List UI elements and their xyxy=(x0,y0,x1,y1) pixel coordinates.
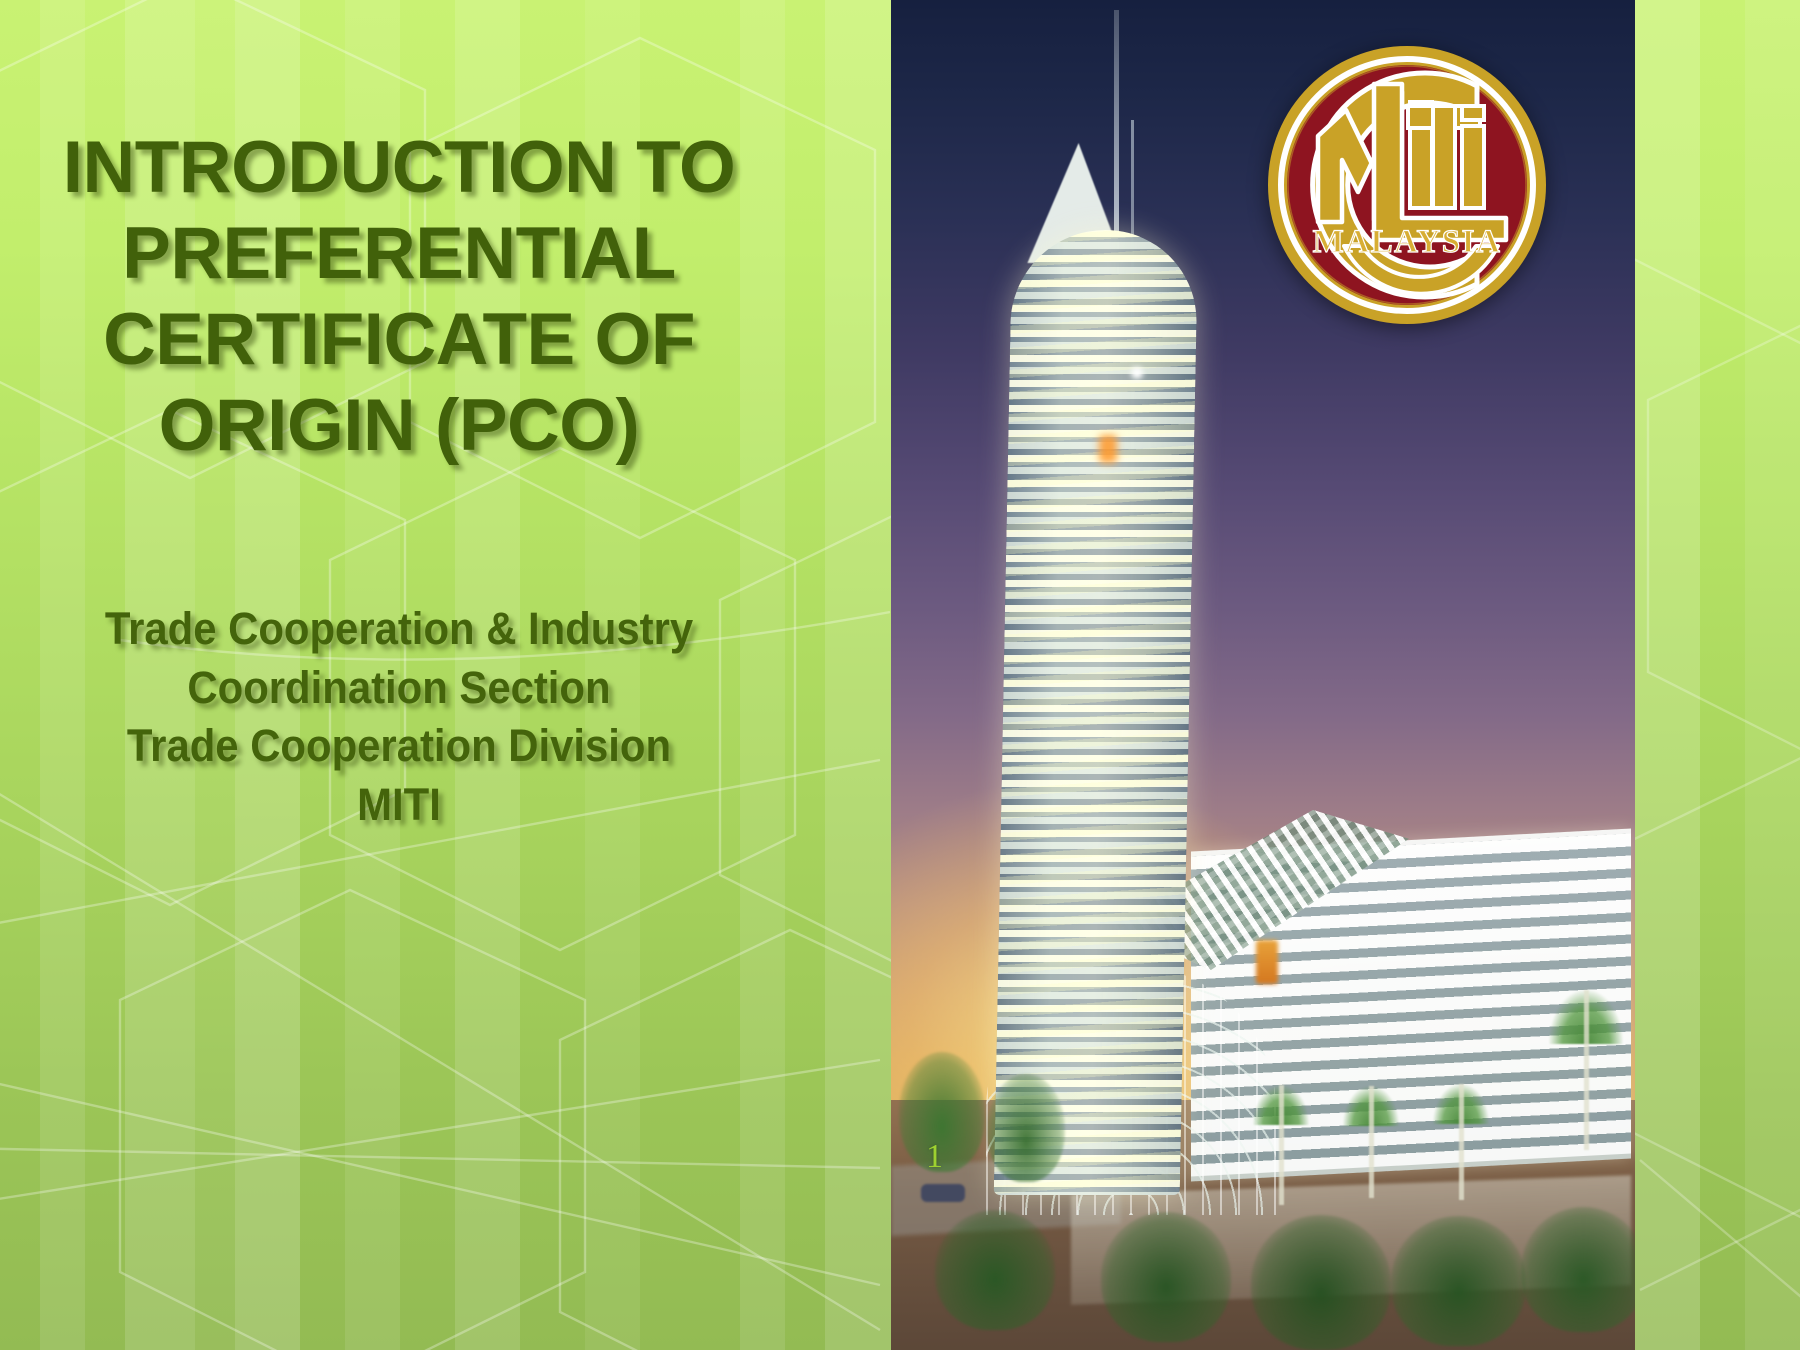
annex-flag xyxy=(1256,940,1278,984)
logo-country-text: MALAYSIA xyxy=(1313,224,1502,260)
tree xyxy=(935,1210,1055,1330)
title-line-1: INTRODUCTION TO xyxy=(24,125,774,211)
text-column: INTRODUCTION TO PREFERENTIAL CERTIFICATE… xyxy=(0,0,891,1350)
miti-malaysia-logo: MALAYSIA xyxy=(1262,40,1552,330)
title-line-4: ORIGIN (PCO) xyxy=(24,383,774,469)
title-line-2: PREFERENTIAL xyxy=(24,211,774,297)
palm-tree xyxy=(1253,1085,1309,1205)
palm-tree xyxy=(1343,1086,1399,1198)
tree xyxy=(1251,1215,1391,1350)
palm-tree xyxy=(1433,1084,1489,1200)
subtitle-line-3: MITI xyxy=(50,776,748,835)
subtitle-line-2: Trade Cooperation Division xyxy=(50,717,748,776)
tower-curved-bands xyxy=(994,230,1199,1195)
tower-beacon xyxy=(1131,367,1143,379)
tree xyxy=(1101,1212,1231,1342)
tree xyxy=(987,1074,1065,1182)
slide-title: INTRODUCTION TO PREFERENTIAL CERTIFICATE… xyxy=(24,125,774,470)
car xyxy=(921,1184,965,1202)
subtitle-line-1: Trade Cooperation & Industry Coordinatio… xyxy=(50,600,748,717)
presentation-slide: 1 MALAYSIA INTRODUCTION TO xyxy=(0,0,1800,1350)
tower-warm-light xyxy=(1099,435,1117,463)
title-line-3: CERTIFICATE OF xyxy=(24,297,774,383)
tree xyxy=(1391,1216,1526,1346)
tree xyxy=(1521,1207,1635,1332)
slide-subtitle: Trade Cooperation & Industry Coordinatio… xyxy=(50,600,748,834)
miti-tower xyxy=(981,135,1251,1195)
palm-tree xyxy=(1551,990,1621,1150)
slide-number: 1 xyxy=(926,1138,943,1176)
